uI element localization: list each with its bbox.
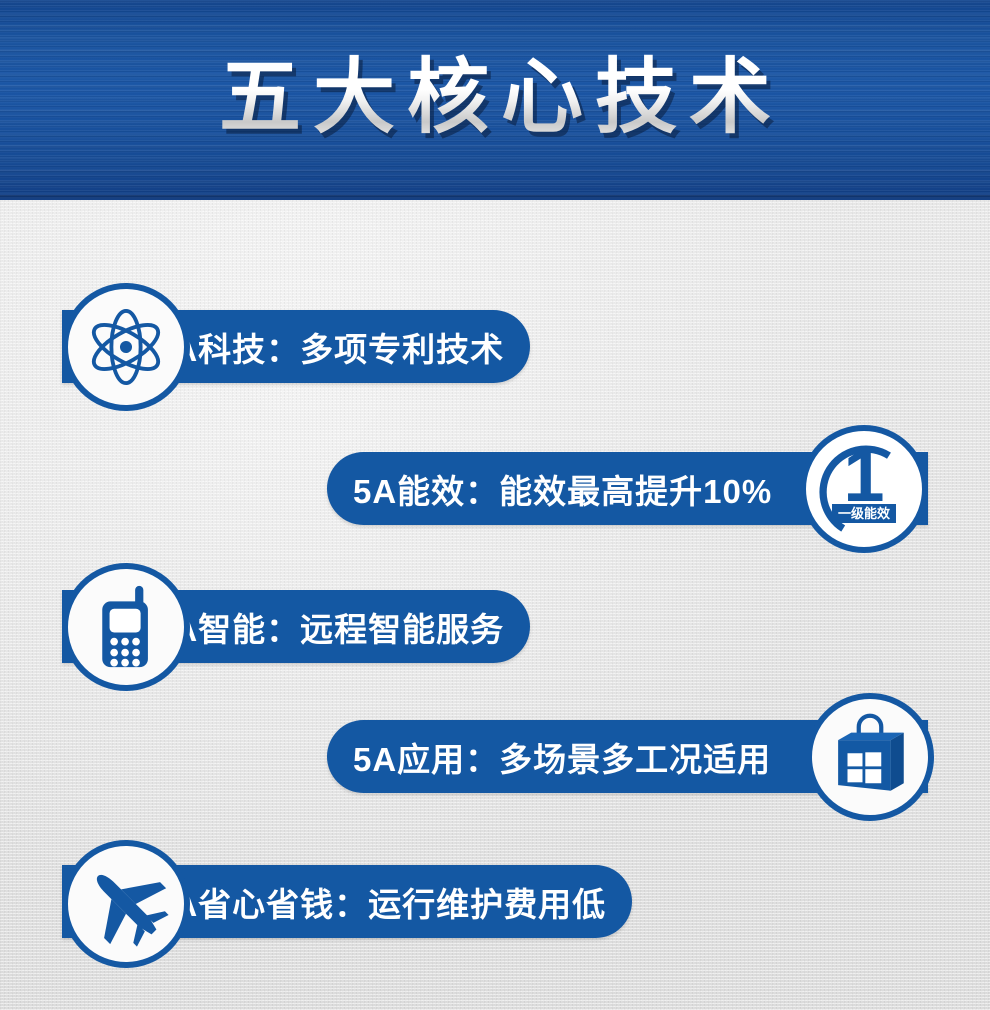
poster-header: 五大核心技术 — [0, 0, 990, 200]
feature-row-savings: 5A省心省钱：运行维护费用低 — [0, 837, 990, 977]
windows-store-bag-icon — [826, 712, 914, 802]
energy-grade-icon: 1 一级能效 — [806, 431, 922, 547]
poster-root: 五大核心技术 5A科技：多项专利技术 — [0, 0, 990, 1010]
feature-label-savings: 5A省心省钱：运行维护费用低 — [154, 878, 606, 926]
mobile-phone-icon — [86, 585, 166, 669]
energy-grade-label: 一级能效 — [832, 504, 896, 523]
feature-row-smart: 5A智能：远程智能服务 — [0, 565, 990, 705]
energy-grade-icon-badge[interactable]: 1 一级能效 — [800, 425, 928, 553]
feature-row-tech: 5A科技：多项专利技术 — [0, 285, 990, 425]
feature-row-efficiency: 5A能效：能效最高提升10% 1 一级能效 — [0, 432, 990, 572]
feature-row-application: 5A应用：多场景多工况适用 — [0, 700, 990, 840]
feature-label-efficiency: 5A能效：能效最高提升10% — [353, 465, 772, 513]
features-list: 5A科技：多项专利技术 5A能效：能效最高提升1 — [0, 200, 990, 1010]
mobile-phone-icon-badge[interactable] — [62, 563, 190, 691]
feature-label-tech: 5A科技：多项专利技术 — [154, 323, 504, 371]
energy-grade-number: 1 — [806, 439, 922, 513]
airplane-icon-badge[interactable] — [62, 840, 190, 968]
feature-label-application: 5A应用：多场景多工况适用 — [353, 733, 771, 781]
atom-icon-badge[interactable] — [62, 283, 190, 411]
page-title: 五大核心技术 — [0, 44, 990, 152]
windows-store-bag-icon-badge[interactable] — [806, 693, 934, 821]
atom-icon — [83, 304, 169, 390]
airplane-icon — [83, 861, 169, 947]
feature-label-smart: 5A智能：远程智能服务 — [154, 603, 504, 651]
